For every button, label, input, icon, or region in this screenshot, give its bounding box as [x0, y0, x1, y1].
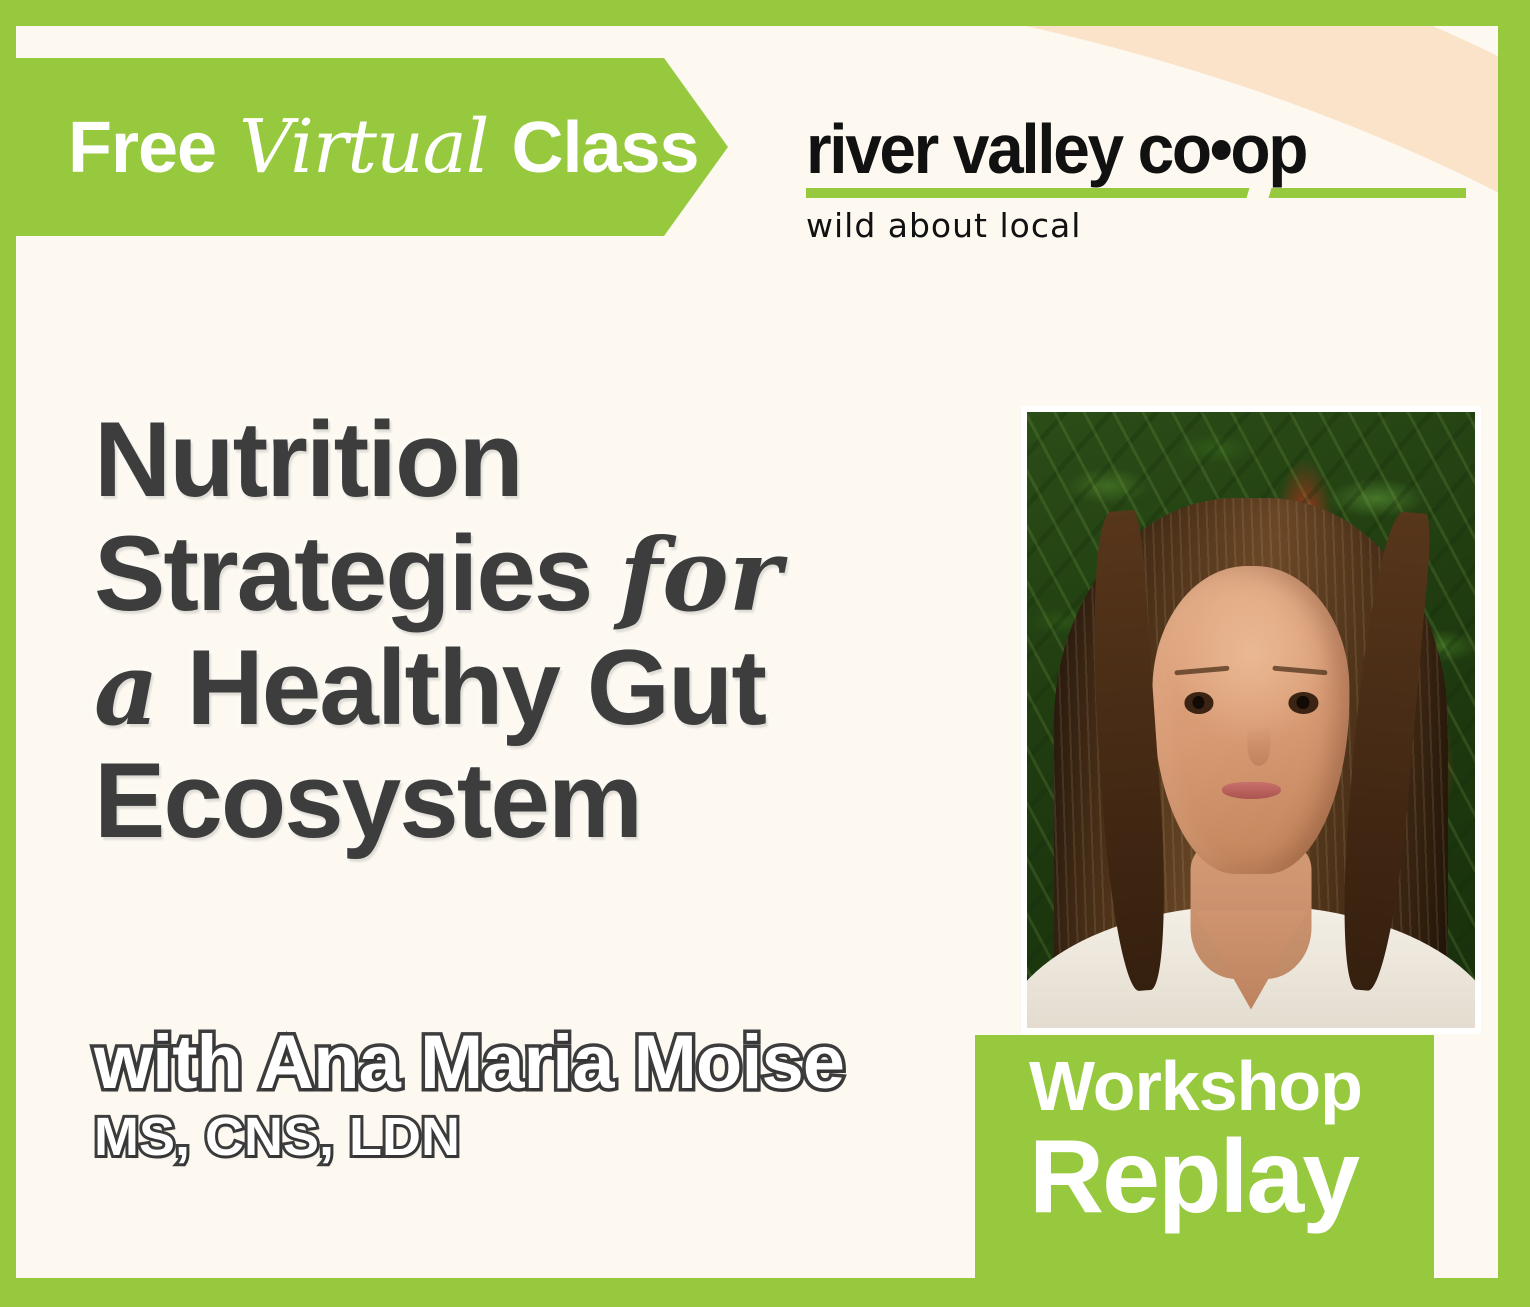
river-valley-coop-logo: river valley co•op wild about local — [806, 114, 1496, 245]
title-line-2: Strategies for — [94, 522, 1034, 626]
free-virtual-class-ribbon: Free Virtual Class — [16, 58, 728, 236]
photo-eye-right — [1288, 692, 1318, 714]
ribbon-label-virtual: Virtual — [235, 104, 492, 190]
presenter-photo-frame — [1021, 406, 1481, 1034]
presenter-credentials: MS, CNS, LDN — [94, 1110, 1034, 1164]
logo-wordmark: river valley co•op — [806, 114, 1455, 184]
logo-tagline: wild about local — [806, 206, 1496, 245]
presenter-photo — [1027, 412, 1475, 1028]
promo-poster: Free Virtual Class river valley co•op wi… — [0, 0, 1530, 1307]
ribbon-label-class: Class — [492, 108, 698, 188]
photo-nose — [1247, 726, 1271, 766]
photo-eye-left — [1184, 692, 1214, 714]
title-line-3: a Healthy Gut — [94, 636, 1034, 740]
workshop-replay-badge: Workshop Replay — [975, 1035, 1434, 1278]
title-line-3-main: Healthy Gut — [159, 627, 765, 747]
page-title: Nutrition Strategies for a Healthy Gut E… — [94, 408, 1034, 863]
photo-eyebrow-left — [1174, 665, 1229, 675]
title-line-4: Ecosystem — [94, 749, 1034, 853]
photo-face — [1152, 566, 1349, 874]
title-line-2-main: Strategies — [94, 513, 619, 633]
title-line-1: Nutrition — [94, 408, 1034, 512]
ribbon-label-free: Free — [68, 108, 235, 188]
replay-badge-line-2: Replay — [1029, 1125, 1434, 1229]
photo-eyebrow-right — [1273, 665, 1328, 675]
title-line-3-script: a — [94, 630, 159, 748]
photo-mouth — [1221, 782, 1280, 799]
title-line-2-script: for — [619, 516, 781, 634]
presenter-name: with Ana Maria Moise — [94, 1024, 1034, 1102]
presenter-block: with Ana Maria Moise MS, CNS, LDN — [94, 1024, 1034, 1164]
ribbon-label: Free Virtual Class — [68, 110, 699, 184]
poster-canvas: Free Virtual Class river valley co•op wi… — [16, 26, 1498, 1278]
logo-green-underline — [806, 188, 1466, 198]
replay-badge-line-1: Workshop — [1029, 1051, 1434, 1121]
